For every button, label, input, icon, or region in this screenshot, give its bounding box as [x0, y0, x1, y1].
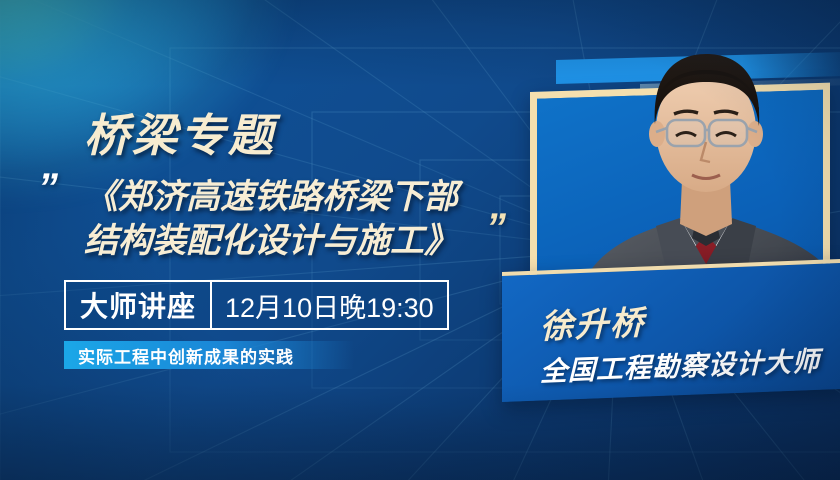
quote-open-icon: ” — [38, 168, 58, 208]
lecture-subtitle-line-2: 结构装配化设计与施工》 — [84, 220, 504, 264]
lecture-badge: 大师讲座 12月10日晚19:30 — [64, 280, 449, 330]
lecture-subtitle: 《郑济高速铁路桥梁下部 结构装配化设计与施工》 — [84, 176, 504, 263]
badge-datetime: 12月10日晚19:30 — [212, 282, 447, 328]
page-title: 桥梁专题 — [84, 99, 276, 164]
speaker-name-block: 徐升桥 全国工程勘察设计大师 — [540, 288, 840, 389]
tagline-banner: 实际工程中创新成果的实践 — [64, 341, 354, 369]
badge-label: 大师讲座 — [66, 282, 210, 328]
lecture-subtitle-line-1: 《郑济高速铁路桥梁下部 — [84, 176, 504, 220]
poster-canvas: 徐升桥 全国工程勘察设计大师 桥梁专题 ” 《郑济高速铁路桥梁下部 结构装配化设… — [0, 0, 840, 480]
quote-close-icon: ” — [486, 208, 506, 248]
